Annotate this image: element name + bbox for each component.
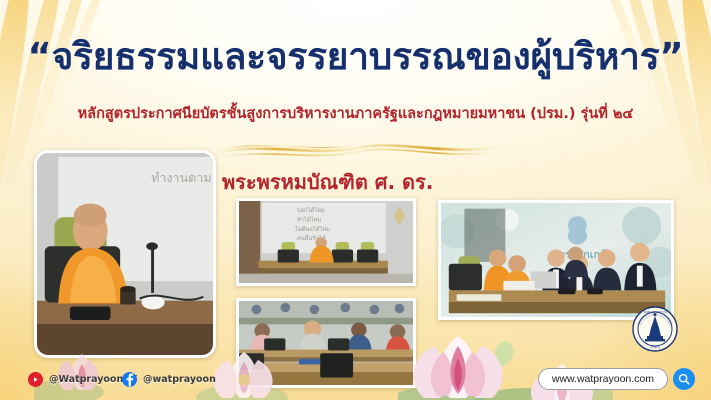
temple-seal-icon: วัดประยุรวงศาวาส วรวิหาร [632, 306, 678, 352]
svg-text:วรวิหาร: วรวิหาร [650, 346, 661, 350]
social-link-youtube[interactable]: @WatprayoonTV [28, 372, 137, 387]
speaker-name: พระพรหมบัณฑิต ศ. ดร. [222, 166, 433, 198]
page-subtitle: หลักสูตรประกาศนียบัตรชั้นสูงการบริหารงาน… [0, 106, 711, 123]
website-url-text[interactable]: www.watprayoon.com [538, 368, 668, 390]
facebook-handle: @watprayoon [143, 374, 216, 385]
svg-text:บอกได้ไหม: บอกได้ไหม [297, 207, 325, 214]
youtube-icon [28, 372, 43, 387]
photo-monk-at-lecture-table[interactable]: บอกได้ไหม ทำได้ไหม ไม่ดีพอได้ไหม คนอื่นร… [236, 198, 416, 286]
svg-text:ทำงานตาม: ทำงานตาม [151, 170, 212, 185]
photo-audience-in-lecture-hall[interactable] [236, 298, 416, 388]
gold-swirl-divider [206, 137, 506, 163]
page-title: “จริยธรรมและจรรยาบรรณของผู้บริหาร” [0, 36, 711, 77]
poster-canvas: “จริยธรรมและจรรยาบรรณของผู้บริหาร” หลักส… [0, 0, 711, 400]
social-link-facebook[interactable]: @watprayoon [122, 372, 216, 387]
photo-monk-lecturing-portrait[interactable]: ทำงานตาม [34, 150, 216, 358]
svg-text:ไม่ดีพอได้ไหม: ไม่ดีพอได้ไหม [294, 226, 330, 233]
facebook-icon [122, 372, 137, 387]
website-url-bar[interactable]: www.watprayoon.com [538, 368, 695, 390]
search-icon[interactable] [673, 368, 695, 390]
photo-group-with-monks[interactable]: พระปกเกล้า [438, 200, 674, 320]
svg-text:ทำได้ไหม: ทำได้ไหม [297, 217, 322, 224]
